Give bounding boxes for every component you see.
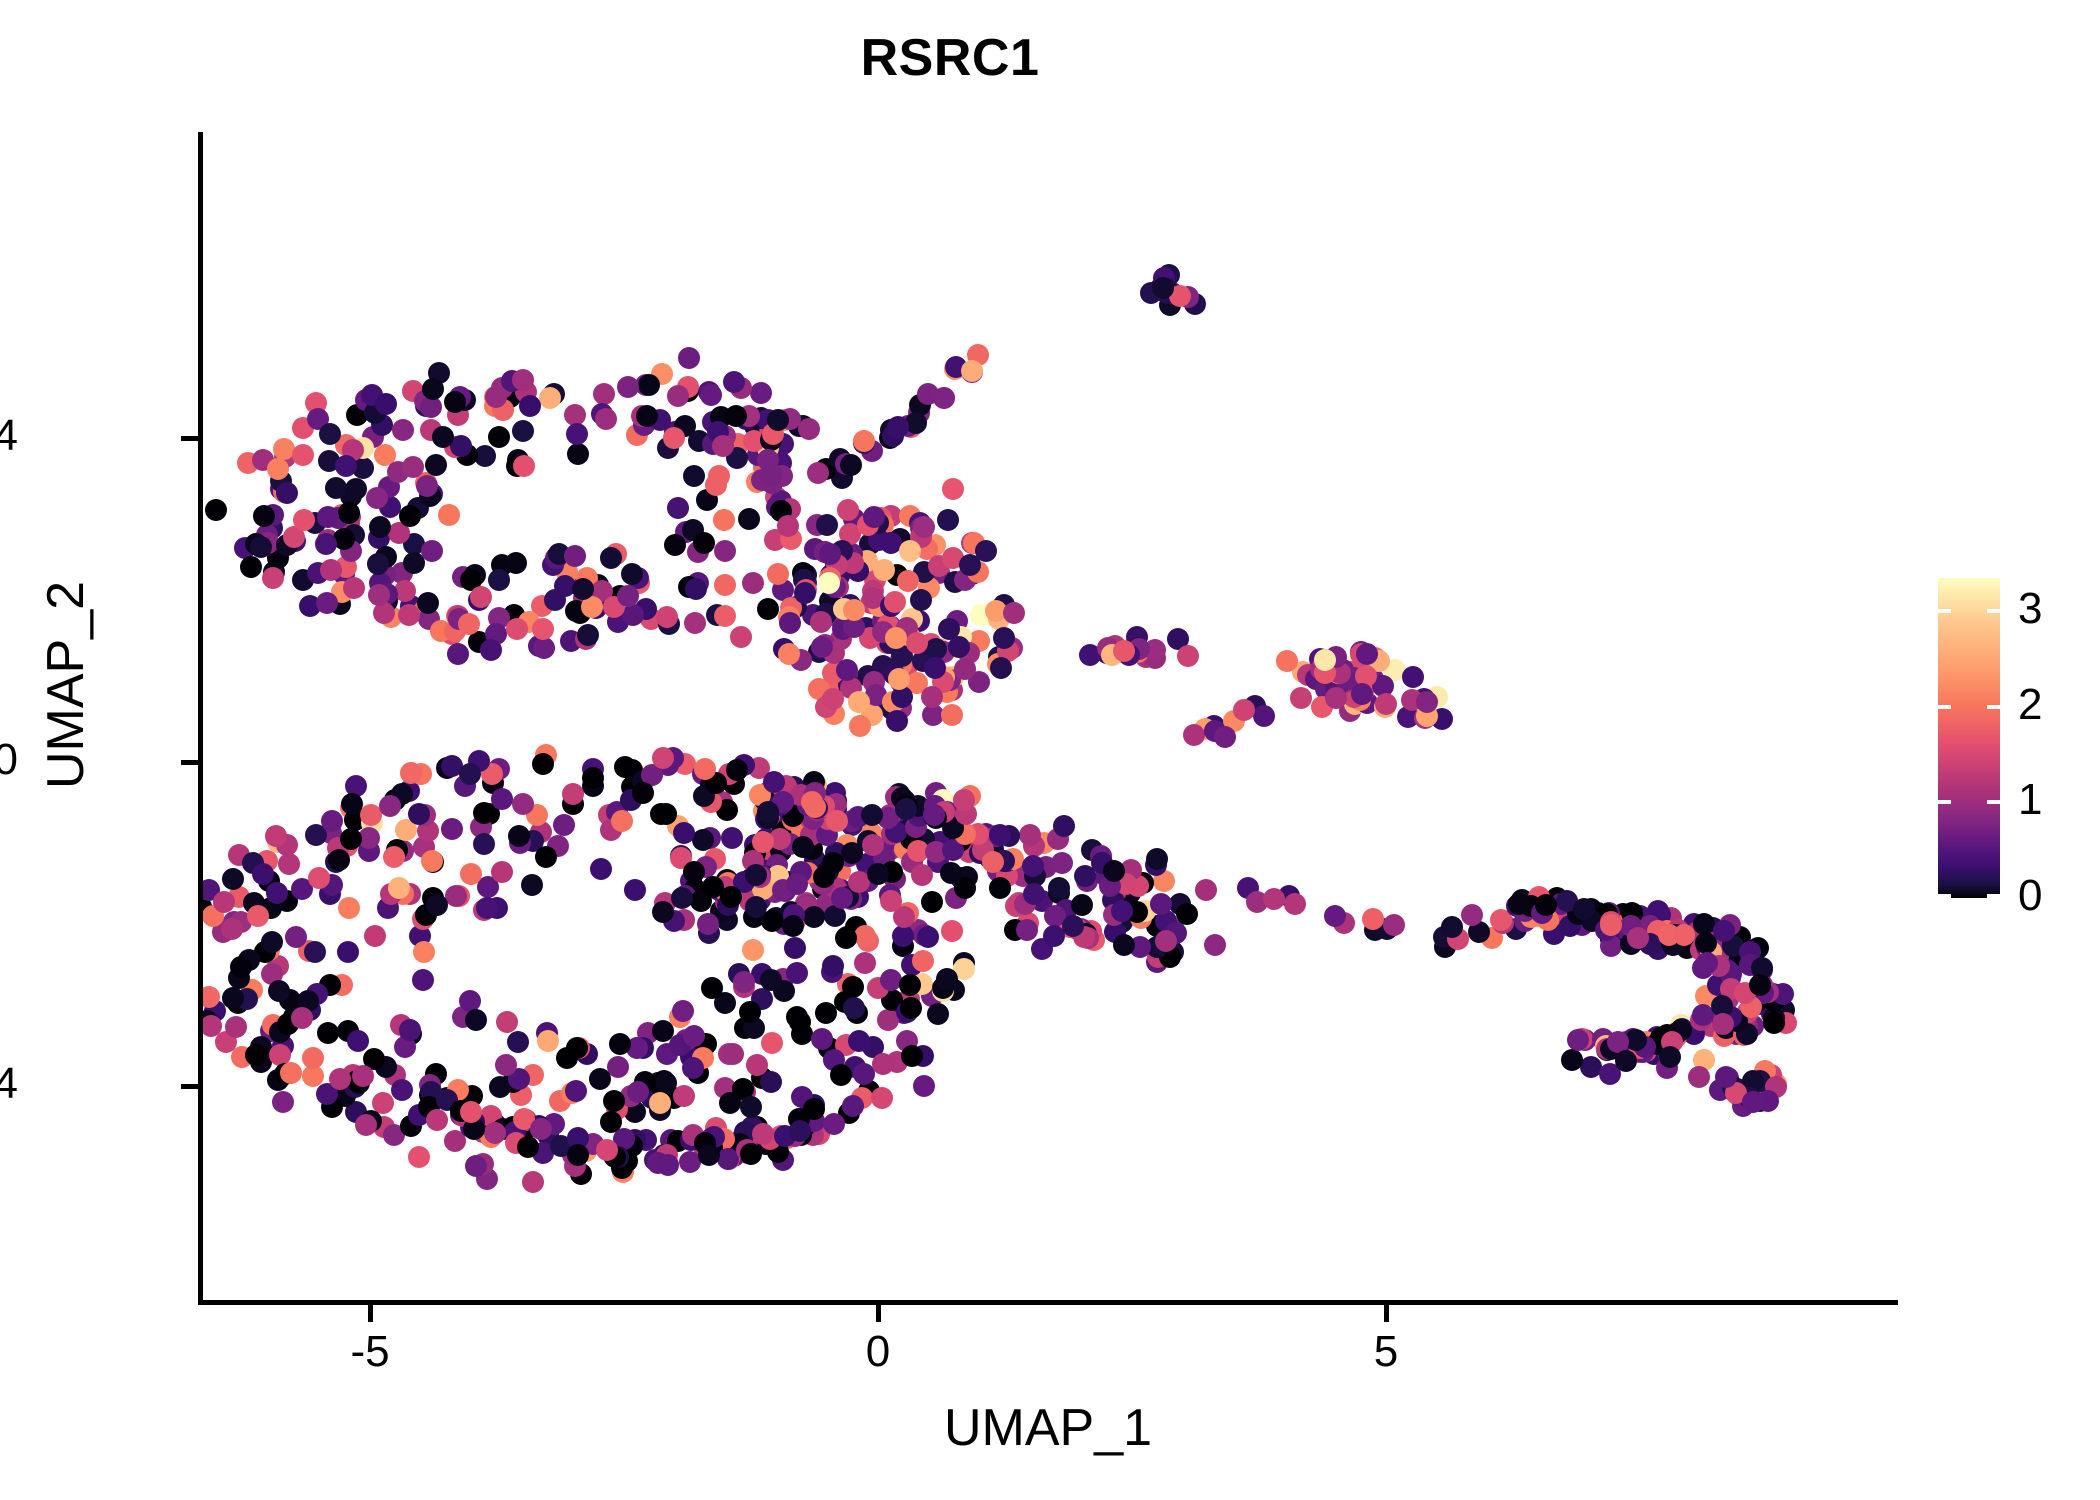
color-legend-tick-mark [1987,609,2000,613]
scatter-point [325,477,347,499]
scatter-point [849,715,871,737]
scatter-point [803,1098,825,1120]
scatter-point [480,639,502,661]
scatter-point [272,1091,294,1113]
scatter-point [1233,699,1255,721]
scatter-point [924,657,946,679]
scatter-point [364,925,386,947]
scatter-point [895,798,917,820]
scatter-point [989,877,1011,899]
scatter-point [1111,900,1133,922]
scatter-point [1314,649,1336,671]
scatter-point [203,986,220,1008]
scatter-point [667,497,689,519]
scatter-point [664,534,686,556]
scatter-point [438,504,460,526]
scatter-point [673,822,695,844]
scatter-point [321,810,343,832]
scatter-point [1195,879,1217,901]
scatter-point [368,584,390,606]
scatter-point [705,474,727,496]
scatter-point [913,516,935,538]
scatter-point [553,814,575,836]
color-legend-tick-label: 3 [2018,587,2088,631]
scatter-point [247,905,269,927]
scatter-point [582,767,604,789]
scatter-point [590,858,612,880]
scatter-point [777,515,799,537]
scatter-point [652,1020,674,1042]
scatter-point [1659,1046,1681,1068]
color-legend-tick-label: 0 [2018,874,2088,918]
scatter-point [667,385,689,407]
scatter-point [566,423,588,445]
scatter-point [672,1000,694,1022]
color-legend: 0123 [1938,578,2088,908]
scatter-point [347,1030,369,1052]
feature-plot-page: RSRC1 -404 -505 UMAP_2 UMAP_1 0123 [0,0,2100,1500]
scatter-point [315,533,337,555]
scatter-point [652,901,674,923]
scatter-point [278,853,300,875]
scatter-point [425,454,447,476]
scatter-point [740,1143,762,1165]
scatter-point [335,455,357,477]
scatter-point [399,505,421,527]
color-legend-tick-mark [1987,894,2000,898]
scatter-point [836,659,858,681]
scatter-point [901,1045,923,1067]
scatter-point [1375,693,1397,715]
y-axis-label: UMAP_2 [36,475,96,895]
scatter-point [880,890,902,912]
scatter-point [760,1071,782,1093]
scatter-point [779,612,801,634]
scatter-point [426,1109,448,1131]
scatter-point [1749,974,1771,996]
scatter-point [421,850,443,872]
scatter-point [746,1054,768,1076]
scatter-point [782,915,804,937]
scatter-point [742,572,764,594]
scatter-point [767,409,789,431]
x-tick-label: 5 [1326,1330,1446,1374]
scatter-point [684,612,706,634]
scatter-point [532,753,554,775]
scatter-point [1016,919,1038,941]
x-axis-line [198,1300,1898,1305]
scatter-point [673,1085,695,1107]
scatter-point [767,563,789,585]
scatter-point [942,478,964,500]
scatter-point [761,1032,783,1054]
scatter-point [1023,883,1045,905]
scatter-point [678,347,700,369]
scatter-point [1204,934,1226,956]
scatter-point [1183,724,1205,746]
color-legend-tick-mark [1938,894,1951,898]
scatter-point [863,506,885,528]
scatter-point [1688,1066,1710,1088]
scatter-point [496,1011,518,1033]
scatter-point [714,574,736,596]
scatter-point [1402,666,1424,688]
scatter-point [213,891,235,913]
scatter-point [338,897,360,919]
scatter-point [927,1003,949,1025]
scatter-point [421,540,443,562]
scatter-point [532,618,554,640]
scatter-point [784,937,806,959]
y-tick-label: 4 [0,414,18,458]
scatter-point [460,863,482,885]
x-tick-label: 0 [818,1330,938,1374]
scatter-point [739,1001,761,1023]
scatter-point [786,873,808,895]
scatter-point [1214,726,1236,748]
scatter-point [742,939,764,961]
scatter-point [337,941,359,963]
scatter-point [566,1037,588,1059]
scatter-point [1696,952,1718,974]
scatter-point [225,1016,247,1038]
scatter-point [476,897,498,919]
scatter-point [505,552,527,574]
scatter-point [954,658,976,680]
scatter-points-layer [203,132,1898,1300]
scatter-point [649,1092,671,1114]
scatter-point [491,788,513,810]
color-legend-tick-mark [1938,800,1951,804]
scatter-point [1383,914,1405,936]
scatter-point [488,569,510,591]
scatter-point [757,598,779,620]
scatter-point [933,387,955,409]
scatter-point [1356,643,1378,665]
scatter-plot-panel [203,132,1898,1300]
scatter-point [841,842,863,864]
scatter-point [1573,898,1595,920]
scatter-point [1715,1066,1737,1088]
scatter-point [1416,691,1438,713]
scatter-point [822,688,844,710]
scatter-point [1284,893,1306,915]
scatter-point [595,408,617,430]
scatter-point [887,416,909,438]
scatter-point [622,604,644,626]
scatter-point [725,405,747,427]
scatter-point [760,464,782,486]
scatter-point [304,941,326,963]
scatter-point [1152,277,1174,299]
scatter-point [352,1065,374,1087]
scatter-point [222,868,244,890]
scatter-point [230,956,252,978]
scatter-point [506,618,528,640]
scatter-point [698,1144,720,1166]
scatter-point [398,604,420,626]
scatter-point [1051,852,1073,874]
y-tick-mark [181,1084,198,1089]
scatter-point [719,1092,741,1114]
x-tick-label: -5 [310,1330,430,1374]
scatter-point [379,795,401,817]
scatter-point [700,384,722,406]
scatter-point [912,950,934,972]
scatter-point [657,1154,679,1176]
scatter-point [911,864,933,886]
scatter-point [900,997,922,1019]
scatter-point [1673,924,1695,946]
scatter-point [316,592,338,614]
scatter-point [240,556,262,578]
scatter-point [816,514,838,536]
scatter-point [794,582,816,604]
scatter-point [266,882,288,904]
scatter-point [1441,916,1463,938]
scatter-point [842,976,864,998]
scatter-point [533,637,555,659]
scatter-point [519,395,541,417]
scatter-point [572,578,594,600]
scatter-point [884,591,906,613]
scatter-point [906,632,928,654]
scatter-point [835,927,857,949]
color-legend-gradient-bar [1938,578,2000,898]
scatter-point [899,540,921,562]
scatter-point [913,1075,935,1097]
scatter-point [292,444,314,466]
scatter-point [1003,602,1025,624]
scatter-point [589,1068,611,1090]
scatter-point [953,789,975,811]
scatter-point [811,636,833,658]
scatter-point [694,758,716,780]
scatter-point [921,686,943,708]
scatter-point [488,426,510,448]
scatter-point [801,791,823,813]
scatter-point [1615,1050,1637,1072]
scatter-point [408,1146,430,1168]
scatter-point [1253,705,1275,727]
scatter-point [508,825,530,847]
scatter-point [712,435,734,457]
scatter-point [862,834,884,856]
scatter-point [512,420,534,442]
color-legend-tick-label: 2 [2018,683,2088,727]
scatter-point [872,1053,894,1075]
scatter-point [611,810,633,832]
scatter-point [250,536,272,558]
scatter-point [317,1022,339,1044]
scatter-point [522,1171,544,1193]
scatter-point [886,710,908,732]
scatter-point [445,885,467,907]
color-legend-tick-mark [1938,609,1951,613]
scatter-point [798,418,820,440]
x-axis-label: UMAP_1 [198,1398,1898,1458]
scatter-point [811,1028,833,1050]
scatter-point [412,969,434,991]
scatter-point [567,443,589,465]
scatter-point [1324,905,1346,927]
scatter-point [491,861,513,883]
scatter-point [885,627,907,649]
scatter-point [537,1030,559,1052]
scatter-point [441,818,463,840]
x-tick-mark [876,1305,881,1322]
scatter-point [328,849,350,871]
scatter-point [807,462,829,484]
scatter-point [786,1006,808,1028]
scatter-point [1362,908,1384,930]
scatter-point [268,980,290,1002]
scatter-point [923,804,945,826]
scatter-point [447,643,469,665]
scatter-point [458,613,480,635]
scatter-point [459,763,481,785]
scatter-point [366,487,388,509]
scatter-point [757,801,779,823]
scatter-point [470,586,492,608]
scatter-point [276,482,298,504]
scatter-point [941,920,963,942]
scatter-point [621,563,643,585]
scatter-point [750,382,772,404]
scatter-point [399,1019,421,1041]
scatter-point [722,1043,744,1065]
scatter-point [682,1057,704,1079]
scatter-point [400,762,422,784]
scatter-point [319,423,341,445]
scatter-point [848,691,870,713]
color-legend-tick-mark [1987,800,2000,804]
scatter-point [507,1031,529,1053]
scatter-point [1276,650,1298,672]
scatter-point [343,577,365,599]
color-legend-tick-label: 1 [2018,778,2088,822]
scatter-point [638,374,660,396]
scatter-point [355,1114,377,1136]
scatter-point [252,863,274,885]
color-legend-tick-mark [1987,705,2000,709]
scatter-point [910,589,932,611]
scatter-point [720,886,742,908]
scatter-point [871,1087,893,1109]
scatter-point [596,1139,618,1161]
scatter-point [854,925,876,947]
scatter-point [544,589,566,611]
y-tick-label: 0 [0,738,18,782]
scatter-point [632,782,654,804]
scatter-point [823,1113,845,1135]
scatter-point [291,1007,313,1029]
scatter-point [663,427,685,449]
scatter-point [1263,888,1285,910]
scatter-point [842,1095,864,1117]
scatter-point [854,952,876,974]
scatter-point [1103,860,1125,882]
page-title: RSRC1 [0,28,1900,88]
scatter-point [853,430,875,452]
scatter-point [831,887,853,909]
scatter-point [562,783,584,805]
scatter-point [245,1044,267,1066]
scatter-point [815,1002,837,1024]
scatter-point [329,1068,351,1090]
scatter-point [222,987,244,1009]
scatter-point [1561,1049,1583,1071]
scatter-point [1627,927,1649,949]
y-tick-mark [181,436,198,441]
x-tick-mark [368,1305,373,1322]
scatter-point [317,506,339,528]
scatter-point [539,387,561,409]
scatter-point [624,879,646,901]
scatter-point [338,502,360,524]
scatter-point [745,864,767,886]
scatter-point [253,505,275,527]
x-tick-mark [1384,1305,1389,1322]
scatter-point [713,509,735,531]
scatter-point [413,941,435,963]
color-legend-tick-mark [1938,705,1951,709]
scatter-point [917,926,939,948]
scatter-point [899,974,921,996]
scatter-point [484,1122,506,1144]
scatter-point [512,369,534,391]
scatter-point [473,802,495,824]
scatter-point [1071,894,1093,916]
scatter-point [843,997,865,1019]
scatter-point [693,532,715,554]
scatter-point [655,803,677,825]
scatter-point [721,827,743,849]
scatter-point [422,378,444,400]
scatter-point [1461,904,1483,926]
scatter-point [205,499,227,521]
scatter-point [1600,914,1622,936]
scatter-point [391,1079,413,1101]
scatter-point [685,578,707,600]
scatter-point [565,1080,587,1102]
scatter-point [262,567,284,589]
scatter-point [723,371,745,393]
scatter-point [535,846,557,868]
scatter-point [1062,915,1084,937]
scatter-point [593,383,615,405]
scatter-point [636,405,658,427]
scatter-point [432,426,454,448]
scatter-point [513,455,535,477]
scatter-point [1290,687,1312,709]
scatter-point [760,969,782,991]
scatter-point [577,624,599,646]
scatter-point [416,475,438,497]
scatter-point [714,540,736,562]
scatter-point [1146,848,1168,870]
scatter-point [280,1062,302,1084]
scatter-point [803,906,825,928]
scatter-point [473,833,495,855]
y-tick-label: -4 [0,1062,18,1106]
scatter-point [495,1054,517,1076]
scatter-point [465,1155,487,1177]
scatter-point [726,759,748,781]
scatter-point [745,896,767,918]
scatter-point [778,643,800,665]
scatter-point [567,1144,589,1166]
